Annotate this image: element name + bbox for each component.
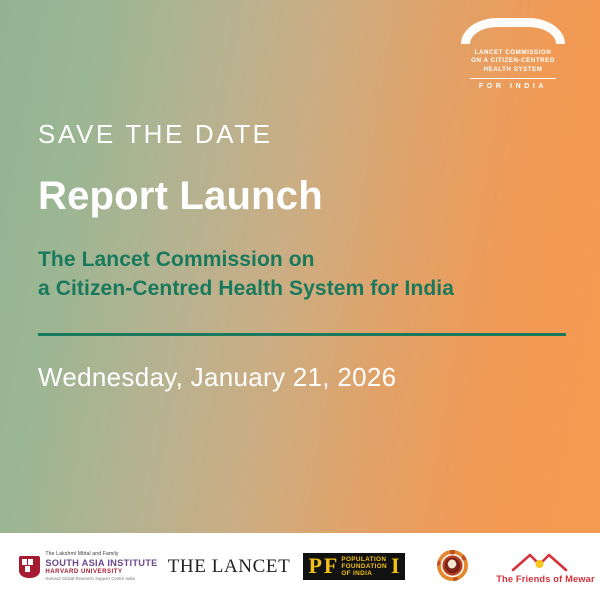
harvard-line-3: HARVARD UNIVERSITY xyxy=(45,569,157,575)
mewar-mountain-icon xyxy=(509,550,583,573)
harvard-line-4: Harvard Global Research Support Centre I… xyxy=(45,577,157,581)
page-title: Report Launch xyxy=(38,173,568,219)
logo-the-lancet: THE LANCET xyxy=(163,533,295,600)
pfi-letter-i: I xyxy=(391,556,400,576)
harvard-line-1: The Lakshmi Mittal and Family xyxy=(45,552,157,557)
brand-logo-line-1: LANCET COMMISSION xyxy=(448,49,578,57)
mewar-wordmark: The Friends of Mewar xyxy=(496,574,595,584)
pfi-stack-line-3: OF INDIA xyxy=(341,570,387,577)
circular-emblem-icon xyxy=(437,550,468,581)
brand-logo-line-3: HEALTH SYSTEM xyxy=(448,66,578,74)
lancet-wordmark: THE LANCET xyxy=(168,556,291,578)
subtitle: The Lancet Commission on a Citizen-Centr… xyxy=(38,245,568,303)
pfi-letter-f: F xyxy=(324,556,337,576)
lancet-commission-logo: LANCET COMMISSION ON A CITIZEN-CENTRED H… xyxy=(448,14,578,86)
divider xyxy=(38,333,566,336)
harvard-line-2: SOUTH ASIA INSTITUTE xyxy=(45,559,157,568)
eyebrow-save-the-date: SAVE THE DATE xyxy=(38,118,568,150)
subtitle-line-2: a Citizen-Centred Health System for Indi… xyxy=(38,277,454,300)
pfi-letter-p: P xyxy=(308,556,321,576)
pfi-stack-line-2: FOUNDATION xyxy=(341,563,387,570)
brand-logo-line-2: ON A CITIZEN-CENTRED xyxy=(448,57,578,65)
pfi-stack-line-1: POPULATION xyxy=(341,556,387,563)
pfi-text-stack: POPULATION FOUNDATION OF INDIA xyxy=(339,556,389,578)
arc-dome-icon xyxy=(461,18,565,44)
gradient-hero-band: LANCET COMMISSION ON A CITIZEN-CENTRED H… xyxy=(0,0,600,533)
partner-logo-strip: The Lakshmi Mittal and Family SOUTH ASIA… xyxy=(0,533,600,600)
brand-logo-for-india: FOR INDIA xyxy=(470,78,556,92)
event-date: Wednesday, January 21, 2026 xyxy=(38,360,568,394)
harvard-shield-icon xyxy=(19,556,40,578)
logo-the-friends-of-mewar: The Friends of Mewar xyxy=(491,533,600,600)
poster-text-block: SAVE THE DATE Report Launch The Lancet C… xyxy=(38,118,568,394)
logo-circular-emblem xyxy=(413,533,491,600)
subtitle-line-1: The Lancet Commission on xyxy=(38,248,315,271)
poster-canvas: LANCET COMMISSION ON A CITIZEN-CENTRED H… xyxy=(0,0,600,600)
logo-population-foundation-of-india: P F POPULATION FOUNDATION OF INDIA I xyxy=(295,533,413,600)
logo-harvard-south-asia-institute: The Lakshmi Mittal and Family SOUTH ASIA… xyxy=(0,533,163,600)
